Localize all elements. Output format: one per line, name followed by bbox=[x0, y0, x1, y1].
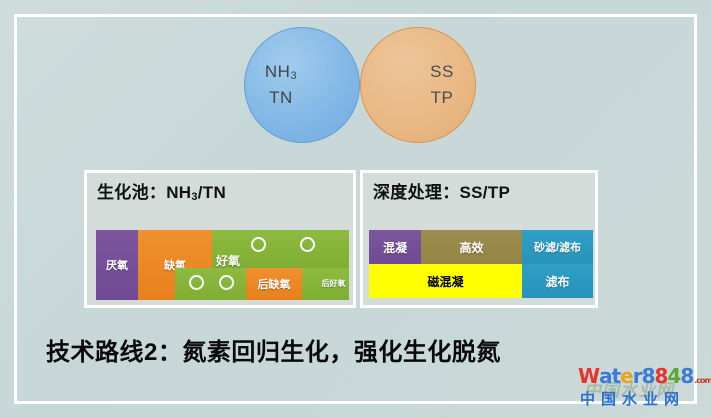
watermark-digit-8a: 8 bbox=[642, 364, 655, 388]
cell-magnetic-coagulation: 磁混凝 bbox=[369, 264, 522, 298]
bio-tank-title-prefix: 生化池： bbox=[97, 183, 166, 202]
cell-sand-cloth-filter: 砂滤/滤布 bbox=[522, 230, 593, 264]
watermark-tld: .com bbox=[694, 376, 711, 385]
cell-post-aerobic: 后好氧 bbox=[318, 268, 349, 300]
aeration-bubble-icon bbox=[189, 275, 204, 290]
solids-circle-labels: SS TP bbox=[430, 59, 454, 112]
cell-cloth-filter: 滤布 bbox=[522, 264, 593, 298]
watermark-digit-8b: 8 bbox=[655, 364, 668, 388]
advanced-title-prefix: 深度处理： bbox=[373, 183, 460, 202]
venn-left-text-nh: NH bbox=[265, 62, 291, 81]
watermark-letter-a: a bbox=[599, 364, 612, 388]
panel-bio-tank: 生化池：NH3/TN 厌氧 缺氧 好氧 后缺氧 后好氧 bbox=[84, 170, 356, 308]
slide-caption: 技术路线2：氮素回归生化，强化生化脱氮 bbox=[46, 332, 501, 367]
venn-left-line-1: NH3 bbox=[265, 59, 297, 85]
venn-left-subscript: 3 bbox=[290, 70, 297, 82]
bio-tank-title-subscript: 3 bbox=[191, 191, 197, 203]
bio-tank-process-diagram: 厌氧 缺氧 好氧 后缺氧 后好氧 bbox=[96, 230, 349, 300]
watermark-digit-4: 4 bbox=[667, 364, 680, 388]
bio-tank-title-nh: NH bbox=[166, 183, 191, 202]
panel-advanced-treatment: 深度处理：SS/TP 混凝 高效 砂滤/滤布 磁混凝 滤布 bbox=[360, 170, 598, 308]
aeration-bubble-icon bbox=[219, 275, 234, 290]
cell-coagulation: 混凝 bbox=[369, 230, 421, 264]
cell-anaerobic: 厌氧 bbox=[96, 230, 138, 300]
slide-canvas: NH3 TN SS TP 生化池：NH3/TN 厌氧 缺氧 好氧 后缺氧 后好氧 bbox=[0, 0, 711, 418]
watermark-letter-e: e bbox=[620, 364, 633, 388]
venn-right-line-1: SS bbox=[430, 59, 454, 85]
advanced-title-sstp: SS/TP bbox=[460, 183, 511, 202]
watermark-chinese: 中国水业网 bbox=[580, 388, 685, 409]
advanced-treatment-process-diagram: 混凝 高效 砂滤/滤布 磁混凝 滤布 bbox=[369, 230, 593, 298]
nitrogen-circle: NH3 TN bbox=[244, 27, 360, 143]
cell-post-anoxic: 后缺氧 bbox=[246, 268, 302, 300]
watermark-digit-8c: 8 bbox=[680, 364, 693, 388]
aeration-bubble-icon bbox=[251, 237, 266, 252]
bio-tank-title-tn: /TN bbox=[198, 183, 226, 202]
solids-phosphorus-circle: SS TP bbox=[360, 27, 476, 143]
panel-bio-tank-title: 生化池：NH3/TN bbox=[97, 178, 226, 203]
cell-aerobic-label: 好氧 bbox=[216, 252, 240, 269]
watermark-letter-r: r bbox=[633, 364, 642, 388]
venn-left-line-2: TN bbox=[265, 85, 297, 111]
venn-diagram: NH3 TN SS TP bbox=[244, 27, 476, 145]
watermark-wordmark: W a t e r 8 8 4 8 .com bbox=[578, 364, 711, 388]
watermark-letter-w: W bbox=[578, 364, 599, 388]
nitrogen-circle-labels: NH3 TN bbox=[265, 59, 297, 112]
venn-right-line-2: TP bbox=[430, 85, 454, 111]
aeration-bubble-icon bbox=[300, 237, 315, 252]
watermark: 中国水业网 W a t e r 8 8 4 8 .com 中国水业网 bbox=[578, 364, 704, 414]
panel-advanced-treatment-title: 深度处理：SS/TP bbox=[373, 178, 510, 203]
cell-high-efficiency: 高效 bbox=[421, 230, 522, 264]
watermark-letter-t: t bbox=[612, 364, 621, 388]
